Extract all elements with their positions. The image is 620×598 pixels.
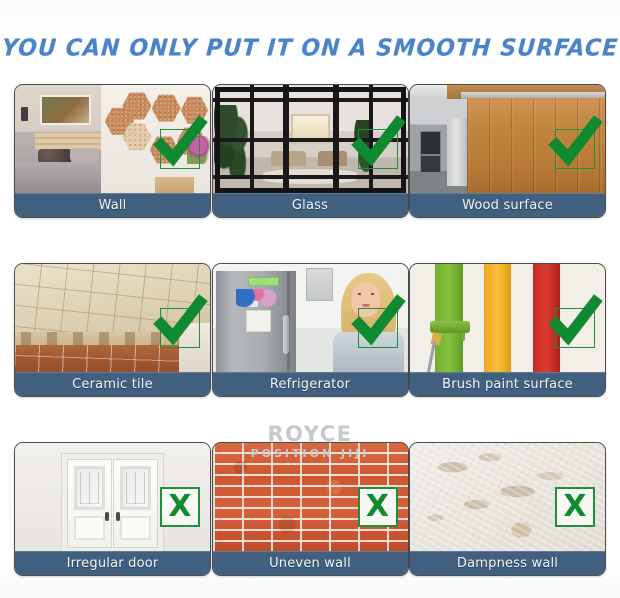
page-title: YOU CAN ONLY PUT IT ON A SMOOTH SURFACE	[1, 35, 619, 62]
card-photo-wall	[15, 85, 210, 195]
allowed-check-badge	[160, 129, 200, 169]
card-label-refrigerator: Refrigerator	[213, 372, 408, 396]
card-photo-brush-paint-surface	[410, 264, 605, 374]
door-leaf-right	[113, 459, 158, 548]
green-check-icon	[151, 294, 209, 352]
card-wood-surface[interactable]: Wood surface	[409, 84, 606, 218]
pillow-dark	[38, 149, 71, 163]
card-label-dampness-wall: Dampness wall	[410, 551, 605, 575]
allowed-check-badge	[358, 129, 398, 169]
surface-card-grid: Wall	[14, 84, 606, 576]
card-wall[interactable]: Wall	[14, 84, 211, 218]
pillow-light	[70, 148, 99, 162]
card-photo-irregular-door: X	[15, 443, 210, 553]
card-label-glass: Glass	[213, 193, 408, 217]
green-check-icon	[546, 294, 604, 352]
card-uneven-wall[interactable]: X Uneven wall	[212, 442, 409, 576]
card-photo-wood-surface	[410, 85, 605, 195]
card-photo-refrigerator	[213, 264, 408, 374]
fridge-paper-note	[246, 310, 271, 332]
picture-frame	[40, 95, 91, 125]
light-switch	[21, 107, 28, 121]
infographic-page: YOU CAN ONLY PUT IT ON A SMOOTH SURFACE …	[0, 0, 620, 598]
allowed-check-badge	[555, 129, 595, 169]
green-check-icon	[546, 115, 604, 173]
denied-cross-badge: X	[160, 487, 200, 527]
card-photo-glass	[213, 85, 408, 195]
green-cross-icon: X	[366, 492, 389, 522]
card-ceramic-tile[interactable]: Ceramic tile	[14, 263, 211, 397]
door-glass-pane	[74, 466, 105, 510]
door-casing	[62, 454, 163, 553]
door-bottom-panel	[120, 516, 151, 540]
card-label-wall: Wall	[15, 193, 210, 217]
denied-cross-badge: X	[358, 487, 398, 527]
door-glass-pane	[120, 466, 151, 510]
door-handle	[116, 512, 120, 521]
card-glass[interactable]: Glass	[212, 84, 409, 218]
upper-cabinet	[306, 268, 333, 301]
card-label-uneven-wall: Uneven wall	[213, 551, 408, 575]
green-sticky-note	[248, 277, 279, 286]
wall-oven-upper	[420, 131, 441, 155]
green-cross-icon: X	[168, 492, 191, 522]
door-handle	[105, 512, 109, 521]
green-cross-icon: X	[563, 492, 586, 522]
card-label-irregular-door: Irregular door	[15, 551, 210, 575]
card-photo-dampness-wall: X	[410, 443, 605, 553]
page-title-container: YOU CAN ONLY PUT IT ON A SMOOTH SURFACE	[0, 36, 620, 61]
denied-cross-badge: X	[555, 487, 595, 527]
allowed-check-badge	[555, 308, 595, 348]
card-irregular-door[interactable]: X Irregular door	[14, 442, 211, 576]
fridge-magnets	[236, 289, 279, 307]
paint-stripe-green	[435, 264, 462, 374]
card-label-ceramic-tile: Ceramic tile	[15, 372, 210, 396]
card-label-wood-surface: Wood surface	[410, 193, 605, 217]
paint-drip	[461, 333, 465, 341]
paint-stripe-orange	[484, 264, 511, 374]
green-check-icon	[151, 115, 209, 173]
kitchen-fridge	[447, 118, 468, 186]
allowed-check-badge	[160, 308, 200, 348]
card-refrigerator[interactable]: Refrigerator	[212, 263, 409, 397]
fridge-handle	[283, 315, 289, 355]
door-leaf-left	[67, 459, 112, 548]
door-bottom-panel	[74, 516, 105, 540]
green-check-icon	[349, 294, 407, 352]
card-photo-uneven-wall: X	[213, 443, 408, 553]
paint-roller	[430, 321, 471, 333]
allowed-check-badge	[358, 308, 398, 348]
card-dampness-wall[interactable]: X Dampness wall	[409, 442, 606, 576]
green-check-icon	[349, 115, 407, 173]
card-photo-ceramic-tile	[15, 264, 210, 374]
card-brush-paint-surface[interactable]: Brush paint surface	[409, 263, 606, 397]
card-label-brush-paint-surface: Brush paint surface	[410, 372, 605, 396]
wall-oven-lower	[420, 155, 441, 173]
bedding	[15, 162, 101, 195]
